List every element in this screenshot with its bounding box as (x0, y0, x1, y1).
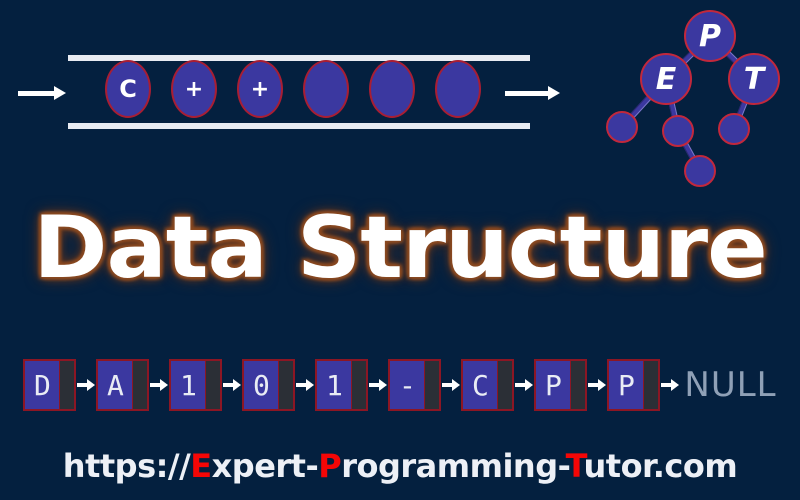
list-item: 1 (315, 359, 368, 411)
list-item-value: - (390, 361, 424, 409)
list-item: - (388, 359, 441, 411)
url-part-3: P (318, 447, 341, 485)
queue-cell-1: + (171, 60, 217, 118)
url-part-1: E (190, 447, 211, 485)
enqueue-arrow-icon (18, 86, 66, 100)
tree-node-rl (718, 113, 750, 145)
list-item-value: A (98, 361, 132, 409)
list-item: P (534, 359, 587, 411)
list-item-value: D (25, 361, 59, 409)
list-item-value: C (463, 361, 497, 409)
footer-url[interactable]: https://Expert-Programming-Tutor.com (0, 447, 800, 485)
tree-node-left: E (640, 53, 692, 105)
list-next-arrow-icon (515, 379, 533, 391)
list-item: D (23, 359, 76, 411)
tree-node-root: P (684, 10, 736, 62)
list-item-value: 1 (171, 361, 205, 409)
list-item: C (461, 359, 514, 411)
list-null-terminator: NULL (684, 365, 776, 405)
list-next-arrow-icon (369, 379, 387, 391)
list-item-pointer-cell (278, 361, 293, 409)
list-item-pointer-cell (132, 361, 147, 409)
tree-node-right: T (728, 53, 780, 105)
list-next-arrow-icon (588, 379, 606, 391)
list-item-value: P (609, 361, 643, 409)
queue-cell-3 (303, 60, 349, 118)
queue-cell-2: + (237, 60, 283, 118)
url-part-6: utor.com (583, 447, 737, 485)
list-item: 1 (169, 359, 222, 411)
page-title: Data Structure (0, 196, 800, 300)
list-next-arrow-icon (223, 379, 241, 391)
list-item-value: 0 (244, 361, 278, 409)
list-item-pointer-cell (424, 361, 439, 409)
list-item-pointer-cell (643, 361, 658, 409)
linked-list-diagram: DA101-CPPNULL (0, 356, 800, 414)
binary-tree-diagram: PET (600, 5, 800, 190)
list-item-value: 1 (317, 361, 351, 409)
queue-cell-4 (369, 60, 415, 118)
list-item-pointer-cell (351, 361, 366, 409)
url-part-2: xpert- (212, 447, 319, 485)
list-next-arrow-icon (150, 379, 168, 391)
list-next-arrow-icon (77, 379, 95, 391)
list-item-pointer-cell (570, 361, 585, 409)
list-item: P (607, 359, 660, 411)
pipe-rail-bottom (68, 123, 530, 129)
queue-diagram: C++ (0, 0, 580, 180)
list-item-pointer-cell (497, 361, 512, 409)
list-item-value: P (536, 361, 570, 409)
tree-node-lr (662, 115, 694, 147)
list-next-arrow-icon (442, 379, 460, 391)
list-item: A (96, 359, 149, 411)
tree-node-ll (606, 111, 638, 143)
url-part-5: T (566, 447, 584, 485)
list-next-arrow-icon (296, 379, 314, 391)
url-part-4: rogramming- (341, 447, 565, 485)
queue-cell-5 (435, 60, 481, 118)
dequeue-arrow-icon (505, 86, 560, 100)
poster-canvas: C++ PET Data Structure DA101-CPPNULL htt… (0, 0, 800, 500)
list-item-pointer-cell (59, 361, 74, 409)
queue-cell-0: C (105, 60, 151, 118)
list-item: 0 (242, 359, 295, 411)
list-item-pointer-cell (205, 361, 220, 409)
tree-node-lrl (684, 155, 716, 187)
url-part-0: https:// (63, 447, 191, 485)
list-next-arrow-icon (661, 379, 679, 391)
